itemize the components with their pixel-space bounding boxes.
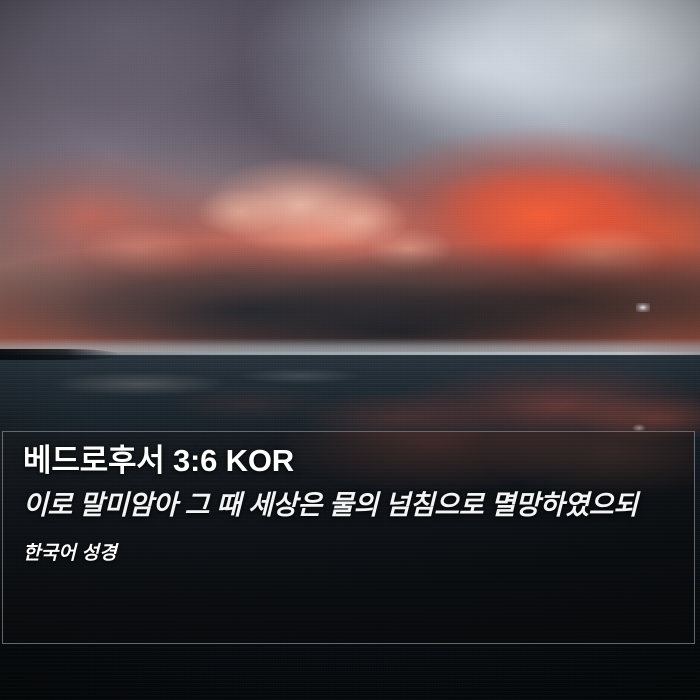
shoreline-spit [0,349,120,360]
sky-glint [636,303,650,312]
verse-panel: 베드로후서 3:6 KOR 이로 말미암아 그 때 세상은 물의 넘침으로 멸망… [2,431,695,644]
verse-source-label: 한국어 성경 [23,538,674,565]
verse-reference: 베드로후서 3:6 KOR [23,442,674,481]
verse-body-text: 이로 말미암아 그 때 세상은 물의 넘침으로 멸망하였으되 [23,487,674,524]
verse-image-canvas: 베드로후서 3:6 KOR 이로 말미암아 그 때 세상은 물의 넘침으로 멸망… [0,0,700,700]
